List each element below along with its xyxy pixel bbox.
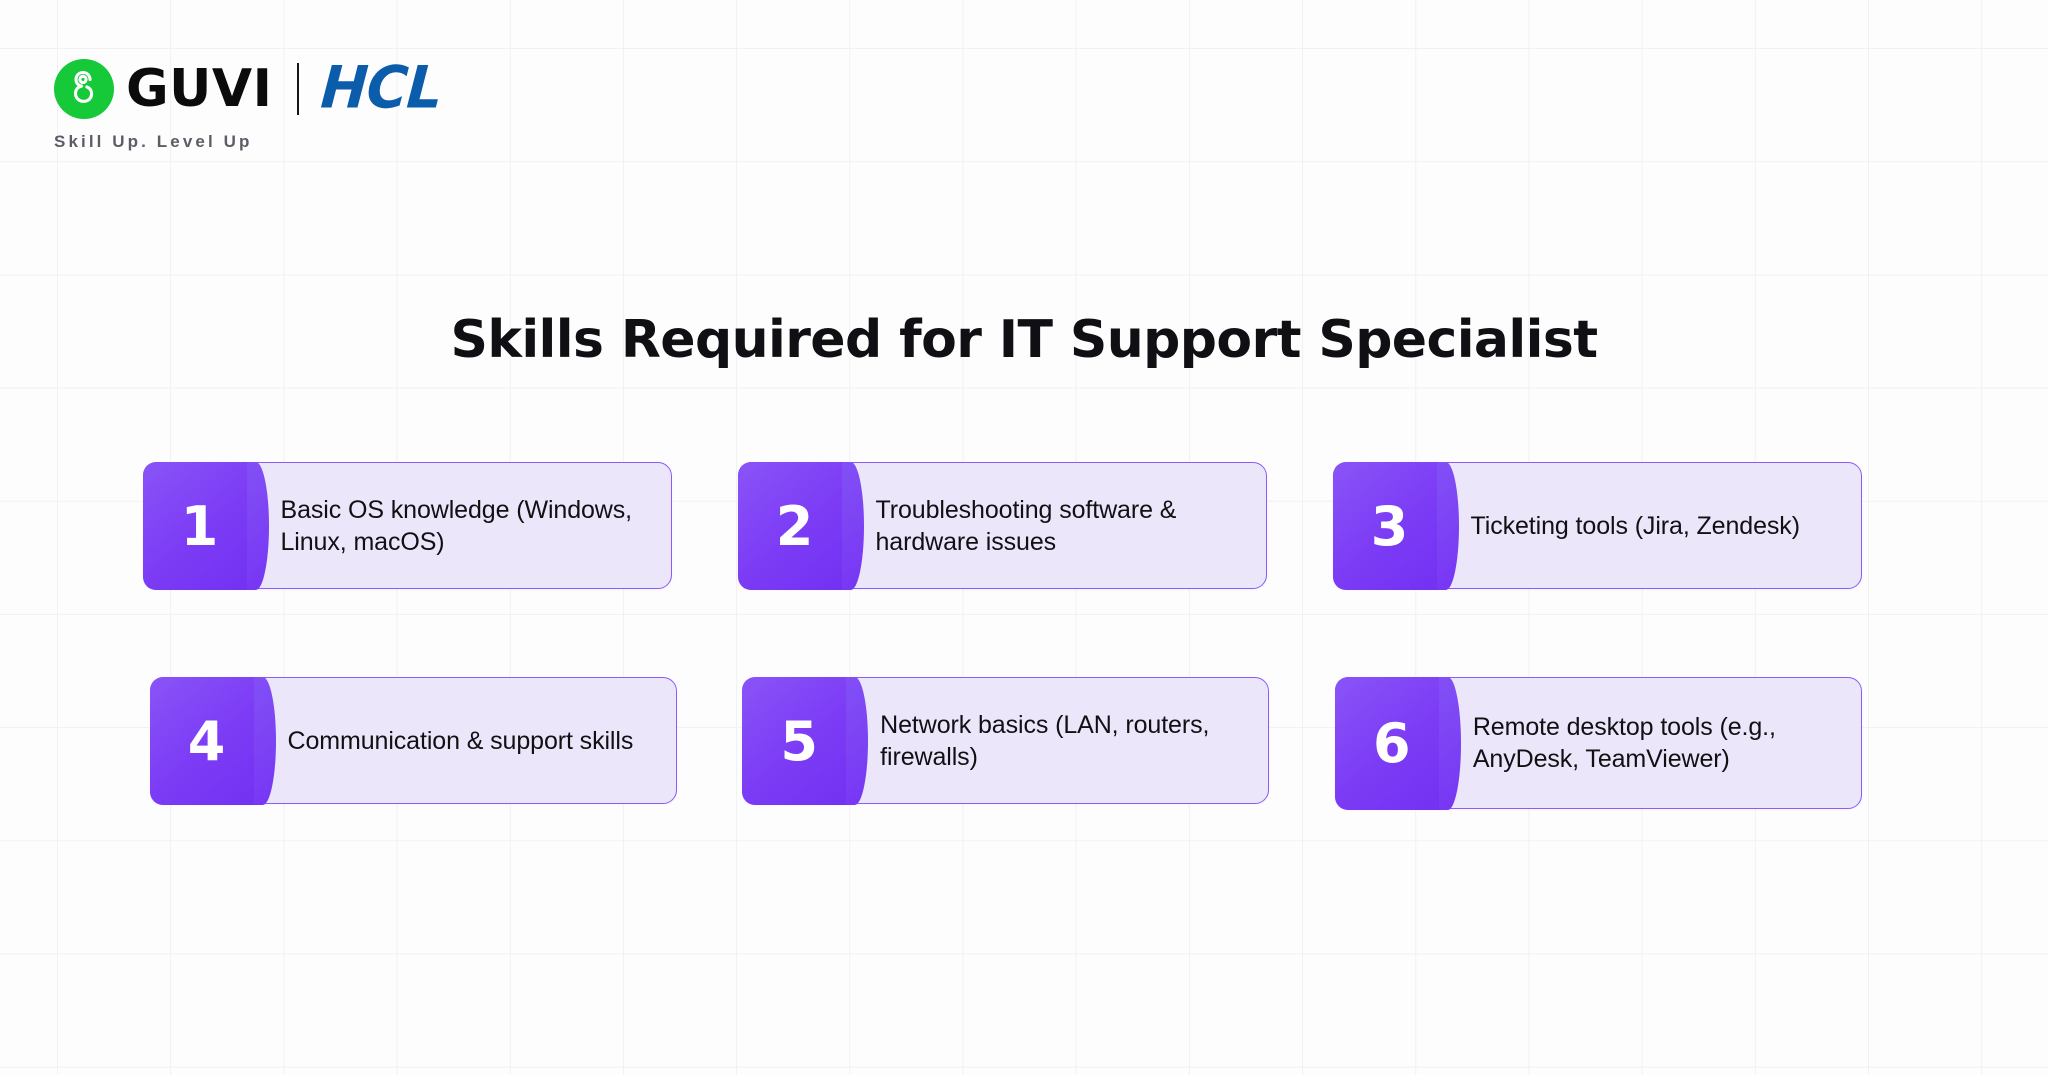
guvi-wordmark: GUVI [126, 63, 273, 115]
skills-card-grid: 1 Basic OS knowledge (Windows, Linux, ma… [128, 462, 1928, 809]
skills-row-1: 1 Basic OS knowledge (Windows, Linux, ma… [143, 462, 1928, 589]
skill-card-1[interactable]: 1 Basic OS knowledge (Windows, Linux, ma… [143, 462, 672, 589]
skill-label: Troubleshooting software & hardware issu… [842, 463, 1267, 588]
brand-divider [297, 63, 299, 115]
brand-logos-row: GUVI HCL [52, 56, 441, 122]
skill-card-3[interactable]: 3 Ticketing tools (Jira, Zendesk) [1333, 462, 1862, 589]
skill-number: 3 [1371, 500, 1409, 554]
skill-number: 6 [1373, 717, 1411, 771]
guvi-logo-icon [52, 57, 116, 121]
skill-number-badge: 3 [1333, 462, 1437, 590]
skill-card-4[interactable]: 4 Communication & support skills [150, 677, 677, 804]
skill-label: Basic OS knowledge (Windows, Linux, macO… [247, 463, 672, 588]
skill-label: Remote desktop tools (e.g., AnyDesk, Tea… [1439, 678, 1861, 808]
skills-row-2: 4 Communication & support skills 5 Netwo… [150, 677, 1928, 809]
skill-card-6[interactable]: 6 Remote desktop tools (e.g., AnyDesk, T… [1335, 677, 1862, 809]
skill-card-2[interactable]: 2 Troubleshooting software & hardware is… [738, 462, 1267, 589]
skill-number-badge: 1 [143, 462, 247, 590]
skill-number-badge: 6 [1335, 677, 1439, 810]
skill-number: 1 [181, 500, 219, 554]
skill-number-badge: 4 [150, 677, 254, 805]
skill-card-5[interactable]: 5 Network basics (LAN, routers, firewall… [743, 677, 1270, 804]
skill-number: 5 [780, 715, 818, 769]
skill-number-badge: 5 [742, 677, 846, 805]
skill-label: Communication & support skills [254, 678, 676, 803]
brand-tagline: Skill Up. Level Up [54, 132, 441, 152]
skill-label: Ticketing tools (Jira, Zendesk) [1437, 463, 1862, 588]
brand-header: GUVI HCL Skill Up. Level Up [52, 56, 441, 152]
hcl-wordmark: HCL [318, 60, 443, 118]
skill-number-badge: 2 [738, 462, 842, 590]
slide-canvas: GUVI HCL Skill Up. Level Up Skills Requi… [0, 0, 2048, 1075]
skill-number: 4 [188, 715, 226, 769]
page-title: Skills Required for IT Support Specialis… [0, 312, 2048, 369]
skill-number: 2 [776, 500, 814, 554]
skill-label: Network basics (LAN, routers, firewalls) [846, 678, 1268, 803]
